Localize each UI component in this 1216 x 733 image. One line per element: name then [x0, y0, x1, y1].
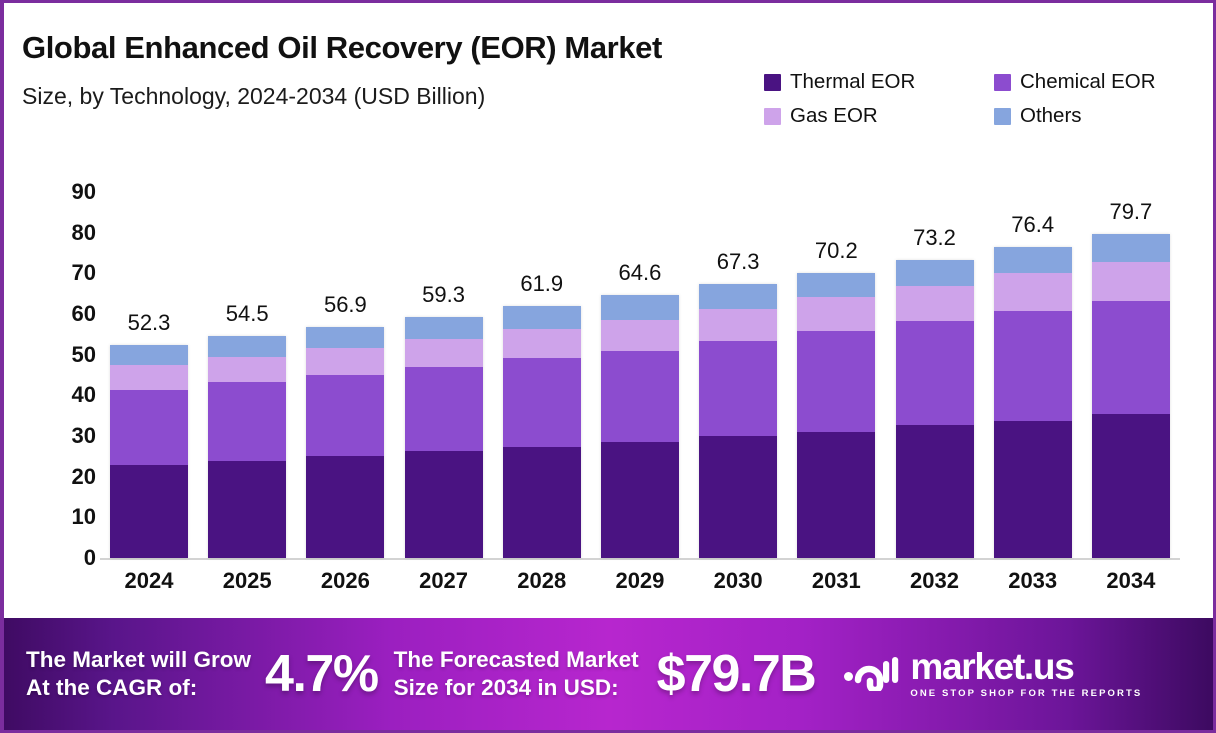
y-axis-tick: 40 [72, 382, 96, 408]
x-axis-tick: 2025 [198, 568, 296, 610]
legend-label: Gas EOR [790, 104, 878, 128]
bar-column[interactable]: 59.3 [395, 148, 493, 558]
bar-segment-others[interactable] [601, 295, 679, 319]
page-subtitle: Size, by Technology, 2024-2034 (USD Bill… [22, 83, 485, 110]
bar-segment-gas-eor[interactable] [503, 329, 581, 358]
legend-item-others: Others [994, 103, 1200, 129]
forecast-label-line2: Size for 2034 in USD: [394, 674, 639, 702]
legend-swatch-icon [994, 74, 1011, 91]
bar-column[interactable]: 64.6 [591, 148, 689, 558]
bar-segment-chemical-eor[interactable] [699, 341, 777, 436]
bar-segment-gas-eor[interactable] [208, 357, 286, 383]
legend-item-chemical-eor: Chemical EOR [994, 69, 1200, 95]
bar-segment-gas-eor[interactable] [896, 286, 974, 322]
x-axis-tick: 2024 [100, 568, 198, 610]
bar-segment-others[interactable] [896, 260, 974, 285]
bar-segment-chemical-eor[interactable] [110, 390, 188, 465]
stacked-bar[interactable] [797, 273, 875, 558]
bar-segment-gas-eor[interactable] [405, 339, 483, 367]
bar-value-label: 52.3 [100, 310, 198, 336]
bar-column[interactable]: 70.2 [787, 148, 885, 558]
bar-segment-others[interactable] [797, 273, 875, 297]
logo-word: market.us [910, 649, 1142, 684]
stacked-bar[interactable] [994, 247, 1072, 558]
stacked-bar[interactable] [306, 327, 384, 558]
stacked-bar[interactable] [208, 336, 286, 558]
bar-column[interactable]: 73.2 [886, 148, 984, 558]
bar-column[interactable]: 56.9 [296, 148, 394, 558]
y-axis-tick: 60 [72, 301, 96, 327]
bar-value-label: 67.3 [689, 249, 787, 275]
bar-segment-gas-eor[interactable] [699, 309, 777, 342]
x-axis-line [100, 558, 1180, 560]
bar-segment-thermal-eor[interactable] [601, 442, 679, 558]
bar-column[interactable]: 67.3 [689, 148, 787, 558]
bar-series-group: 52.354.556.959.361.964.667.370.273.276.4… [100, 148, 1180, 558]
chart-canvas: Global Enhanced Oil Recovery (EOR) Marke… [0, 0, 1216, 733]
cagr-label-line2: At the CAGR of: [26, 674, 251, 702]
x-axis-tick: 2027 [395, 568, 493, 610]
bar-segment-thermal-eor[interactable] [1092, 414, 1170, 558]
stacked-bar[interactable] [601, 295, 679, 558]
bar-segment-others[interactable] [405, 317, 483, 339]
x-axis-tick: 2033 [984, 568, 1082, 610]
market-us-wordmark: market.us ONE STOP SHOP FOR THE REPORTS [910, 649, 1142, 698]
bar-segment-chemical-eor[interactable] [503, 358, 581, 447]
bar-column[interactable]: 61.9 [493, 148, 591, 558]
y-axis-tick: 50 [72, 342, 96, 368]
y-axis: 9080706050403020100 [40, 148, 96, 568]
y-axis-tick: 10 [72, 504, 96, 530]
y-axis-tick: 20 [72, 464, 96, 490]
bar-segment-others[interactable] [699, 284, 777, 308]
bar-segment-others[interactable] [503, 306, 581, 329]
legend-swatch-icon [994, 108, 1011, 125]
logo-tagline: ONE STOP SHOP FOR THE REPORTS [910, 688, 1142, 699]
footer-banner: The Market will Grow At the CAGR of: 4.7… [4, 618, 1214, 730]
bar-segment-thermal-eor[interactable] [699, 436, 777, 558]
bar-segment-thermal-eor[interactable] [896, 425, 974, 558]
bar-column[interactable]: 52.3 [100, 148, 198, 558]
bar-value-label: 56.9 [296, 292, 394, 318]
legend-item-gas-eor: Gas EOR [764, 103, 994, 129]
legend-item-thermal-eor: Thermal EOR [764, 69, 994, 95]
bar-segment-others[interactable] [1092, 234, 1170, 262]
bar-segment-thermal-eor[interactable] [306, 456, 384, 558]
legend-swatch-icon [764, 108, 781, 125]
x-axis-tick: 2029 [591, 568, 689, 610]
legend-label: Others [1020, 104, 1082, 128]
cagr-label-line1: The Market will Grow [26, 646, 251, 674]
bar-value-label: 61.9 [493, 271, 591, 297]
bar-column[interactable]: 76.4 [984, 148, 1082, 558]
bar-segment-chemical-eor[interactable] [896, 321, 974, 425]
bar-segment-gas-eor[interactable] [1092, 262, 1170, 301]
x-axis-tick: 2031 [787, 568, 885, 610]
stacked-bar[interactable] [896, 260, 974, 558]
y-axis-tick: 90 [72, 179, 96, 205]
legend-label: Thermal EOR [790, 70, 915, 94]
bar-segment-chemical-eor[interactable] [797, 331, 875, 432]
bar-segment-thermal-eor[interactable] [503, 447, 581, 558]
bar-segment-gas-eor[interactable] [797, 297, 875, 331]
bar-segment-others[interactable] [994, 247, 1072, 273]
bar-value-label: 64.6 [591, 260, 689, 286]
forecast-label-line1: The Forecasted Market [394, 646, 639, 674]
legend-label: Chemical EOR [1020, 70, 1156, 94]
bar-segment-chemical-eor[interactable] [306, 375, 384, 456]
bar-segment-thermal-eor[interactable] [797, 432, 875, 558]
market-us-logo[interactable]: market.us ONE STOP SHOP FOR THE REPORTS [843, 649, 1142, 698]
legend-swatch-icon [764, 74, 781, 91]
bar-segment-others[interactable] [208, 336, 286, 356]
y-axis-tick: 0 [84, 545, 96, 571]
chart-header: Global Enhanced Oil Recovery (EOR) Marke… [4, 3, 1214, 148]
bar-value-label: 54.5 [198, 301, 296, 327]
stacked-bar[interactable] [1092, 234, 1170, 558]
forecast-value: $79.7B [657, 644, 816, 704]
cagr-label: The Market will Grow At the CAGR of: [26, 646, 251, 702]
stacked-bar[interactable] [503, 306, 581, 558]
bar-column[interactable]: 79.7 [1082, 148, 1180, 558]
plot-area: 9080706050403020100 52.354.556.959.361.9… [4, 148, 1214, 618]
x-axis-tick: 2026 [296, 568, 394, 610]
x-axis-tick: 2030 [689, 568, 787, 610]
bar-segment-chemical-eor[interactable] [1092, 301, 1170, 414]
bar-value-label: 70.2 [787, 238, 885, 264]
bar-value-label: 79.7 [1082, 199, 1180, 225]
bar-segment-chemical-eor[interactable] [405, 367, 483, 452]
bar-value-label: 59.3 [395, 282, 493, 308]
chart-legend: Thermal EOR Chemical EOR Gas EOR Others [764, 69, 1200, 129]
bar-segment-thermal-eor[interactable] [110, 465, 188, 558]
bar-segment-gas-eor[interactable] [110, 365, 188, 390]
bar-segment-chemical-eor[interactable] [994, 311, 1072, 421]
stacked-bar[interactable] [699, 284, 777, 558]
bar-segment-thermal-eor[interactable] [208, 461, 286, 558]
bar-segment-others[interactable] [110, 345, 188, 365]
bar-column[interactable]: 54.5 [198, 148, 296, 558]
bar-segment-gas-eor[interactable] [994, 273, 1072, 311]
stacked-bar[interactable] [110, 345, 188, 558]
x-axis-tick: 2028 [493, 568, 591, 610]
y-axis-tick: 30 [72, 423, 96, 449]
bar-value-label: 73.2 [886, 225, 984, 251]
forecast-label: The Forecasted Market Size for 2034 in U… [394, 646, 639, 702]
x-axis: 2024202520262027202820292030203120322033… [100, 568, 1180, 610]
bar-segment-chemical-eor[interactable] [601, 351, 679, 442]
bar-segment-thermal-eor[interactable] [405, 451, 483, 558]
bar-segment-thermal-eor[interactable] [994, 421, 1072, 558]
market-us-mark-icon [843, 651, 899, 696]
bar-segment-gas-eor[interactable] [306, 348, 384, 375]
bar-value-label: 76.4 [984, 212, 1082, 238]
bar-segment-chemical-eor[interactable] [208, 382, 286, 461]
x-axis-tick: 2032 [886, 568, 984, 610]
bar-segment-others[interactable] [306, 327, 384, 349]
cagr-value: 4.7% [265, 644, 378, 704]
x-axis-tick: 2034 [1082, 568, 1180, 610]
page-title: Global Enhanced Oil Recovery (EOR) Marke… [22, 30, 662, 66]
bar-segment-gas-eor[interactable] [601, 320, 679, 351]
y-axis-tick: 80 [72, 220, 96, 246]
y-axis-tick: 70 [72, 260, 96, 286]
stacked-bar[interactable] [405, 317, 483, 558]
